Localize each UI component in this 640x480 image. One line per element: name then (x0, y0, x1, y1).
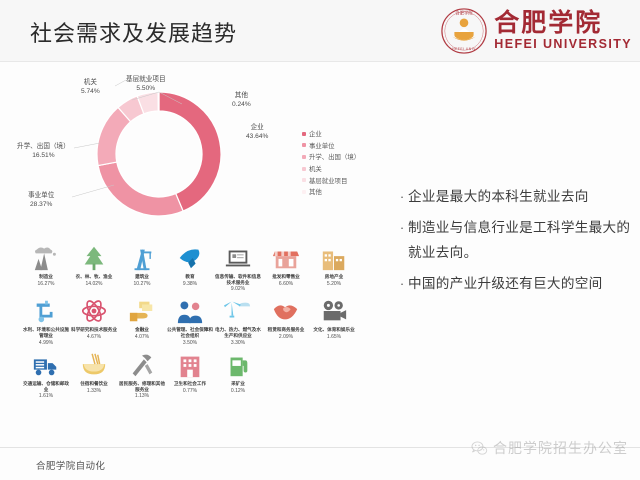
industry-icon-wrap (29, 349, 63, 379)
hospital-icon (175, 351, 205, 379)
bullet-marker: · (396, 184, 408, 209)
faucet-icon (31, 297, 61, 325)
logo-chinese-name: 合肥学院 (494, 10, 602, 36)
svg-text:合肥学院: 合肥学院 (456, 10, 474, 17)
industry-item: 住宿和餐饮业1.33% (70, 349, 118, 402)
atom-icon (79, 297, 109, 325)
industry-percent: 3.30% (231, 340, 245, 346)
wechat-icon (471, 441, 488, 456)
legend-swatch (302, 143, 306, 147)
industry-label: 卫生和社会工作 (167, 381, 213, 387)
industry-item: 水利、环境和公共设施管理业4.99% (22, 295, 70, 348)
donut-label-jiguan: 机关5.74% (81, 79, 100, 97)
industry-icon-wrap (269, 242, 303, 272)
industry-percent: 0.12% (231, 388, 245, 394)
industry-item: 房地产业5.20% (310, 242, 358, 295)
industry-percent: 9.02% (231, 286, 245, 292)
noodle-bowl-icon (79, 351, 109, 379)
money-hand-icon (127, 297, 157, 325)
industry-label: 金融业 (119, 327, 165, 333)
wind-turbine-icon (223, 297, 253, 325)
bullet-marker: · (396, 271, 408, 296)
industry-icon-wrap (125, 242, 159, 272)
employment-donut-chart: 机关5.74% 基层就业项目5.50% 其他0.24% 企业43.64% 升学、… (14, 70, 374, 235)
industry-label: 农、林、牧、渔业 (71, 274, 117, 280)
industry-percent: 3.50% (183, 340, 197, 346)
legend-swatch (302, 167, 306, 171)
industry-icon-wrap (77, 349, 111, 379)
industry-percent: 5.20% (327, 281, 341, 287)
key-point-text: 中国的产业升级还有巨大的空间 (408, 271, 603, 296)
industry-item: 金融业4.07% (118, 295, 166, 348)
crane-icon (127, 244, 157, 272)
industry-item: 居民服务、修理和其他服务业1.13% (118, 349, 166, 402)
university-logo: 合肥学院 HEFEI UNIV 合肥学院 HEFEI UNIVERSITY (440, 4, 632, 58)
industry-icon-wrap (77, 295, 111, 325)
bullet-marker: · (396, 215, 408, 240)
industry-item: 教育9.38% (166, 242, 214, 295)
industry-percent: 1.33% (87, 388, 101, 394)
legend-label: 基层就业项目 (309, 176, 347, 185)
industry-row: 交通运输、仓储和邮政业1.61%住宿和餐饮业1.33%居民服务、修理和其他服务业… (14, 349, 374, 402)
donut-label-qiye: 企业43.64% (246, 124, 268, 142)
page-title: 社会需求及发展趋势 (30, 16, 237, 48)
industry-label: 科学研究和技术服务业 (71, 327, 117, 333)
legend-item: 企业 (302, 128, 374, 140)
truck-icon (31, 351, 61, 379)
industry-item: 卫生和社会工作0.77% (166, 349, 214, 402)
donut-label-jicengjiuye: 基层就业项目5.50% (126, 76, 166, 94)
industry-percent: 10.27% (134, 281, 151, 287)
industry-label: 居民服务、修理和其他服务业 (119, 381, 165, 392)
industry-percent: 2.09% (279, 334, 293, 340)
industry-icon-wrap (173, 295, 207, 325)
factory-icon (31, 244, 61, 272)
industry-icon-wrap (317, 295, 351, 325)
industry-label: 交通运输、仓储和邮政业 (23, 381, 69, 392)
key-point-text: 制造业与信息行业是工科学生最大的就业去向。 (408, 215, 634, 265)
wechat-watermark: 合肥学院招生办公室 (471, 438, 628, 458)
legend-item: 事业单位 (302, 140, 374, 152)
industry-percent: 1.61% (39, 393, 53, 399)
donut-label-shengxue: 升学、出国（境）16.51% (17, 143, 70, 161)
legend-label: 升学、出国（境） (309, 152, 360, 161)
tree-icon (79, 244, 109, 272)
legend-item: 机关 (302, 163, 374, 175)
industry-label: 水利、环境和公共设施管理业 (23, 327, 69, 338)
people-icon (175, 297, 205, 325)
industry-item: 采矿业0.12% (214, 349, 262, 402)
legend-swatch (302, 178, 306, 182)
shop-icon (271, 244, 301, 272)
university-seal-icon: 合肥学院 HEFEI UNIV (440, 7, 488, 55)
industry-percent: 1.13% (135, 393, 149, 399)
industry-label: 文化、体育和娱乐业 (311, 327, 357, 333)
industry-item: 交通运输、仓储和邮政业1.61% (22, 349, 70, 402)
watermark-label: 合肥学院招生办公室 (493, 438, 628, 458)
legend-label: 企业 (309, 129, 322, 138)
legend-swatch (302, 190, 306, 194)
key-points-list: ·企业是最大的本科生就业去向·制造业与信息行业是工科学生最大的就业去向。·中国的… (396, 184, 634, 302)
film-camera-icon (319, 297, 349, 325)
industry-icon-wrap (269, 295, 303, 325)
industry-item: 电力、热力、燃气及水生产和供应业3.30% (214, 295, 262, 348)
industry-label: 房地产业 (311, 274, 357, 280)
key-point: ·中国的产业升级还有巨大的空间 (396, 271, 634, 296)
industry-icon-wrap (221, 295, 255, 325)
industry-icon-grid: 制造业16.27%农、林、牧、渔业14.02%建筑业10.27%教育9.38%信… (14, 242, 374, 402)
donut-label-shiyedanwei: 事业单位28.37% (28, 192, 54, 210)
legend-item: 升学、出国（境） (302, 151, 374, 163)
svg-text:HEFEI UNIV: HEFEI UNIV (452, 47, 476, 51)
footer-label: 合肥学院自动化 (36, 458, 105, 472)
industry-percent: 16.27% (38, 281, 55, 287)
key-point-text: 企业是最大的本科生就业去向 (408, 184, 589, 209)
industry-label: 采矿业 (215, 381, 261, 387)
industry-icon-wrap (125, 295, 159, 325)
industry-label: 制造业 (23, 274, 69, 280)
legend-label: 机关 (309, 164, 322, 173)
donut-slice (158, 92, 159, 111)
legend-item: 基层就业项目 (302, 174, 374, 186)
industry-percent: 0.77% (183, 388, 197, 394)
industry-percent: 6.60% (279, 281, 293, 287)
industry-item: 信息传输、软件和信息技术服务业9.02% (214, 242, 262, 295)
industry-row: 水利、环境和公共设施管理业4.99%科学研究和技术服务业4.67%金融业4.07… (14, 295, 374, 348)
industry-label: 建筑业 (119, 274, 165, 280)
industry-icon-wrap (221, 242, 255, 272)
industry-item: 公共管理、社会保障和社会组织3.50% (166, 295, 214, 348)
industry-row: 制造业16.27%农、林、牧、渔业14.02%建筑业10.27%教育9.38%信… (14, 242, 374, 295)
donut-slice (159, 92, 221, 211)
gas-pump-icon (223, 351, 253, 379)
industry-icon-wrap (173, 349, 207, 379)
tools-icon (127, 351, 157, 379)
industry-item: 制造业16.27% (22, 242, 70, 295)
industry-label: 批发和零售业 (263, 274, 309, 280)
industry-icon-wrap (77, 242, 111, 272)
industry-icon-wrap (317, 242, 351, 272)
logo-english-name: HEFEI UNIVERSITY (494, 37, 632, 52)
industry-percent: 4.07% (135, 334, 149, 340)
buildings-icon (319, 244, 349, 272)
industry-percent: 14.02% (86, 281, 103, 287)
laptop-icon (223, 244, 253, 272)
left-content-column: 机关5.74% 基层就业项目5.50% 其他0.24% 企业43.64% 升学、… (14, 70, 374, 430)
legend-swatch (302, 155, 306, 159)
legend-swatch (302, 132, 306, 136)
industry-icon-wrap (29, 242, 63, 272)
legend-label: 事业单位 (309, 141, 335, 150)
slide-header: 社会需求及发展趋势 合肥学院 HEFEI UNIV 合肥学院 HEFEI UNI… (0, 0, 640, 62)
industry-icon-wrap (221, 349, 255, 379)
industry-percent: 1.65% (327, 334, 341, 340)
industry-label: 住宿和餐饮业 (71, 381, 117, 387)
key-point: ·企业是最大的本科生就业去向 (396, 184, 634, 209)
industry-label: 租赁和商务服务业 (263, 327, 309, 333)
industry-percent: 4.67% (87, 334, 101, 340)
donut-label-qita: 其他0.24% (232, 92, 251, 110)
industry-label: 教育 (167, 274, 213, 280)
legend-label: 其他 (309, 187, 322, 196)
industry-item: 农、林、牧、渔业14.02% (70, 242, 118, 295)
industry-percent: 9.38% (183, 281, 197, 287)
handshake-icon (271, 297, 301, 325)
chart-legend: 企业事业单位升学、出国（境）机关基层就业项目其他 (302, 128, 374, 198)
key-point: ·制造业与信息行业是工科学生最大的就业去向。 (396, 215, 634, 265)
industry-item: 租赁和商务服务业2.09% (262, 295, 310, 348)
industry-icon-wrap (173, 242, 207, 272)
legend-item: 其他 (302, 186, 374, 198)
donut-slice (98, 162, 183, 216)
industry-label: 信息传输、软件和信息技术服务业 (215, 274, 261, 285)
industry-icon-wrap (125, 349, 159, 379)
industry-item: 批发和零售业6.60% (262, 242, 310, 295)
industry-percent: 4.99% (39, 340, 53, 346)
presentation-slide: 社会需求及发展趋势 合肥学院 HEFEI UNIV 合肥学院 HEFEI UNI… (0, 0, 640, 480)
industry-label: 电力、热力、燃气及水生产和供应业 (215, 327, 261, 338)
industry-label: 公共管理、社会保障和社会组织 (167, 327, 213, 338)
industry-item: 科学研究和技术服务业4.67% (70, 295, 118, 348)
industry-icon-wrap (29, 295, 63, 325)
graduation-book-icon (175, 244, 205, 272)
industry-item: 文化、体育和娱乐业1.65% (310, 295, 358, 348)
industry-item: 建筑业10.27% (118, 242, 166, 295)
